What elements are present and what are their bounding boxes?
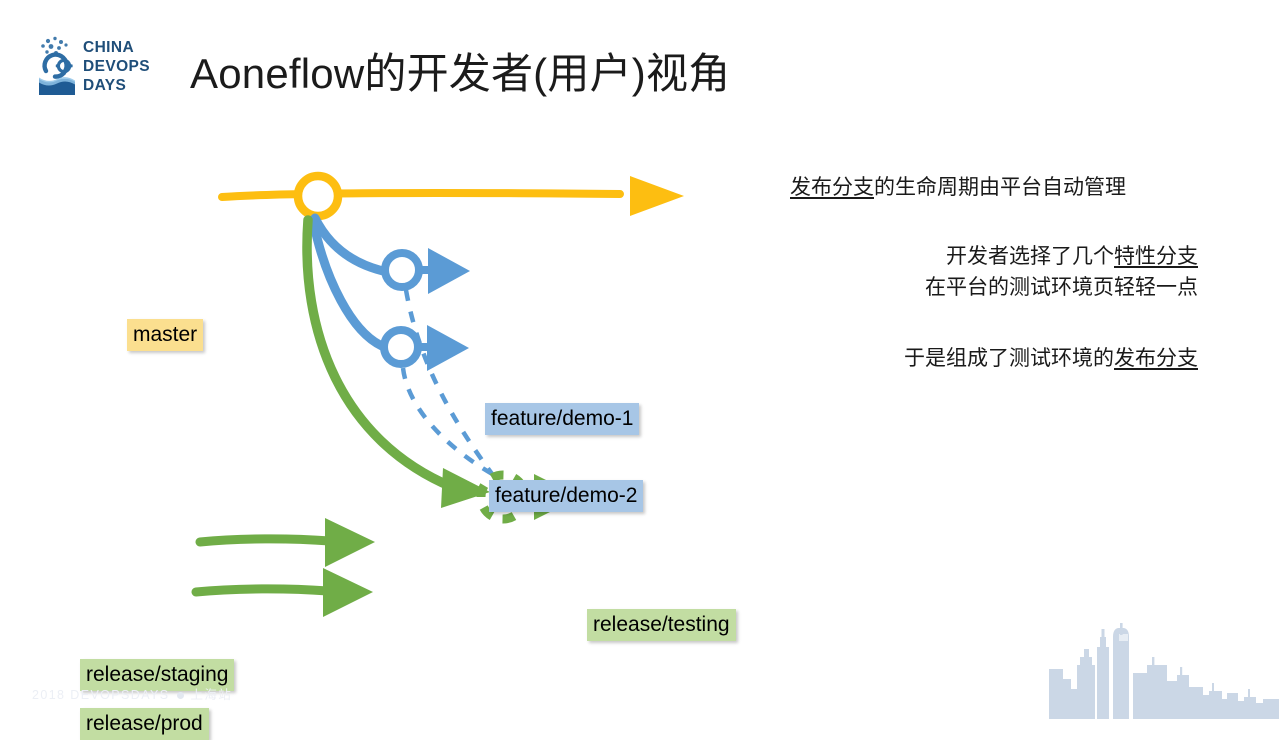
branch-graph-svg: [0, 130, 820, 650]
annotation-panel: 发布分支的生命周期由平台自动管理 开发者选择了几个特性分支 在平台的测试环境页轻…: [790, 172, 1210, 374]
branch-label-master: master: [127, 319, 203, 351]
slide-header: CHINA DEVOPS DAYS Aoneflow的开发者(用户)视角: [0, 0, 1279, 130]
branch-label-release-prod: release/prod: [80, 708, 209, 740]
china-devops-days-logo: CHINA DEVOPS DAYS: [26, 33, 154, 97]
footer-credit: 2018 DEVOPSDAYS上海站: [32, 684, 232, 703]
annotation-underline-release-branch: 发布分支: [790, 176, 874, 199]
aoneflow-branch-diagram: master feature/demo-1 feature/demo-2 rel…: [0, 130, 820, 650]
feature-merge-dashed-lines: [403, 290, 494, 475]
branch-label-feature-demo-1: feature/demo-1: [485, 403, 639, 435]
logo-line-devops: DEVOPS: [83, 58, 150, 75]
branch-label-feature-demo-2: feature/demo-2: [489, 480, 643, 512]
logo-line-china: CHINA: [83, 39, 134, 56]
master-branch-line: [222, 176, 684, 216]
feature-demo-1-branch: [315, 218, 470, 294]
release-staging-arrow: [200, 518, 375, 567]
annotation-line-3: 在平台的测试环境页轻轻一点: [790, 272, 1198, 303]
annotation-block-3: 于是组成了测试环境的发布分支: [790, 343, 1210, 374]
annotation-text-plain-2: 于是组成了测试环境的: [904, 347, 1114, 370]
annotation-block-2: 开发者选择了几个特性分支 在平台的测试环境页轻轻一点: [790, 241, 1210, 303]
shanghai-skyline-silhouette: [1049, 607, 1279, 719]
footer-city: 上海站: [191, 688, 233, 702]
release-prod-arrow: [196, 568, 373, 617]
annotation-line-1: 发布分支的生命周期由平台自动管理: [790, 172, 1210, 203]
branch-label-release-testing: release/testing: [587, 609, 736, 641]
annotation-text-rest: 的生命周期由平台自动管理: [874, 176, 1126, 199]
footer-dot-separator: [177, 692, 184, 699]
annotation-line-4: 于是组成了测试环境的发布分支: [790, 343, 1198, 374]
annotation-block-1: 发布分支的生命周期由平台自动管理: [790, 172, 1210, 203]
logo-line-days: DAYS: [83, 77, 126, 94]
annotation-underline-release-branch-2: 发布分支: [1114, 347, 1198, 370]
annotation-text-plain: 开发者选择了几个: [946, 245, 1114, 268]
annotation-line-2: 开发者选择了几个特性分支: [790, 241, 1198, 272]
annotation-underline-feature-branch: 特性分支: [1114, 245, 1198, 268]
page-title: Aoneflow的开发者(用户)视角: [190, 47, 730, 101]
footer-year-event: 2018 DEVOPSDAYS: [32, 688, 170, 702]
